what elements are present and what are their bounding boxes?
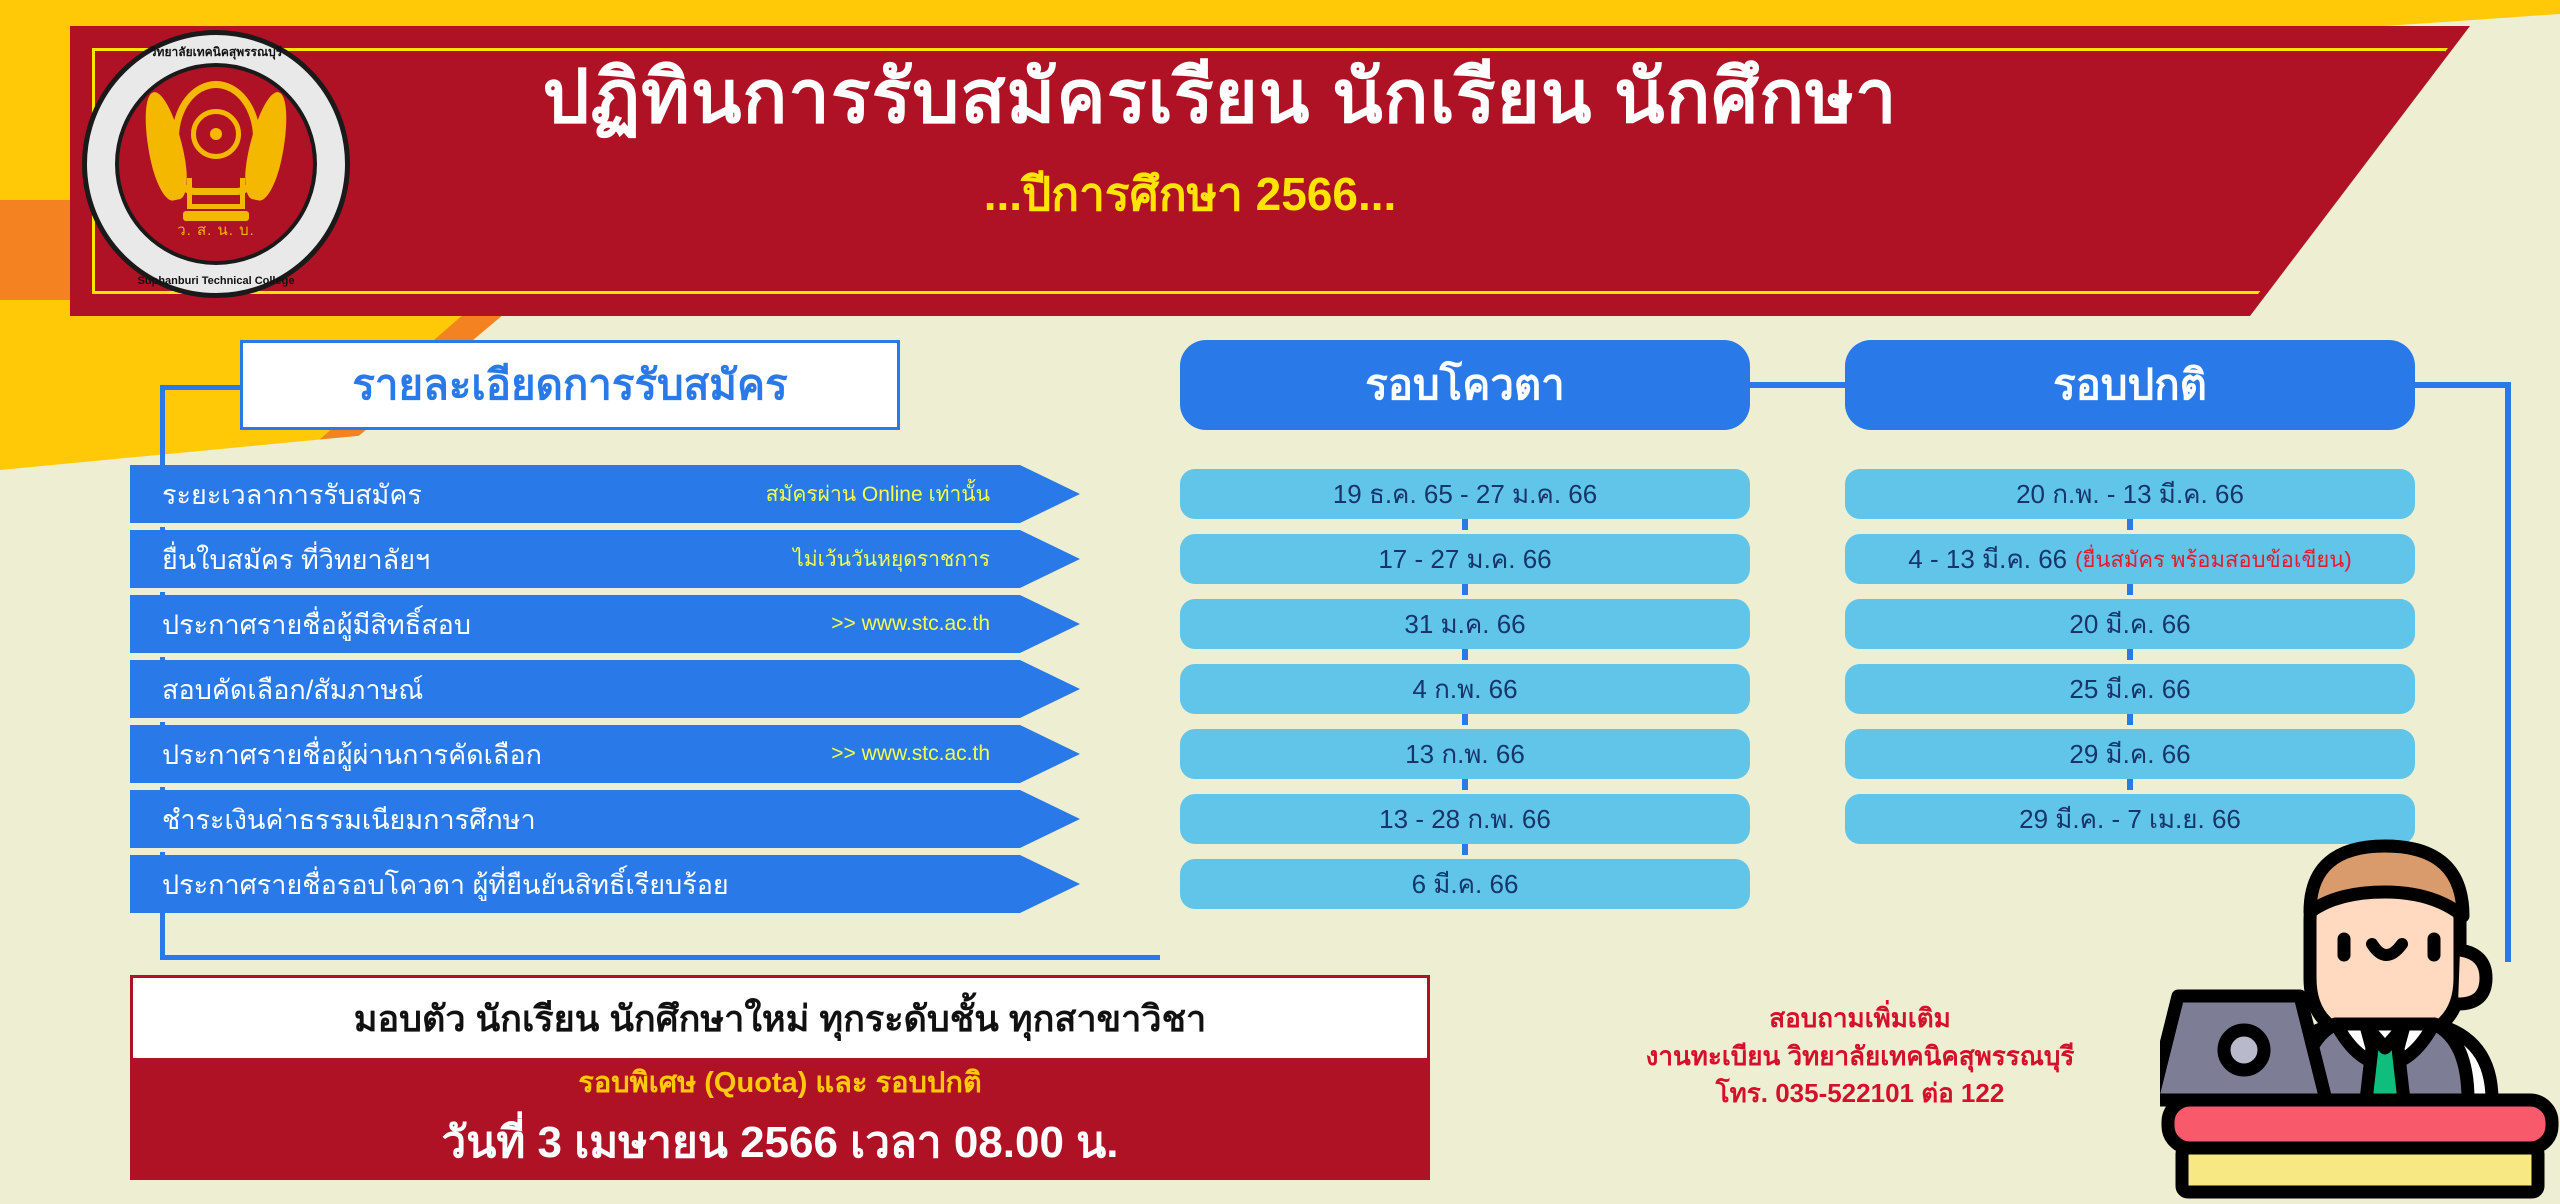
contact-block: สอบถามเพิ่มเติม งานทะเบียน วิทยาลัยเทคนิ… [1480,1000,2240,1113]
normal-connector-tick [2127,714,2133,725]
normal-connector-tick [2127,519,2133,530]
schedule-row-label-text: ประกาศรายชื่อผู้ผ่านการคัดเลือก [162,733,542,776]
column-header-normal-label: รอบปกติ [2053,352,2207,418]
enrollment-banner-line2: รอบพิเศษ (Quota) และ รอบปกติ [578,1059,981,1105]
quota-date-pill: 13 - 28 ก.พ. 66 [1180,794,1750,844]
quota-connector-tick [1462,779,1468,790]
quota-connector-tick [1462,519,1468,530]
schedule-row-separator [130,588,1080,592]
schedule-row-label-text: ยื่นใบสมัคร ที่วิทยาลัยฯ [162,538,430,581]
quota-date-pill: 6 มี.ค. 66 [1180,859,1750,909]
normal-date-text: 25 มี.ค. 66 [2069,669,2190,710]
schedule-row-label-text: ประกาศรายชื่อรอบโควตา ผู้ที่ยืนยันสิทธิ์… [162,863,729,906]
quota-connector-tick [1462,649,1468,660]
column-header-quota-label: รอบโควตา [1365,352,1565,418]
quota-date-text: 13 ก.พ. 66 [1405,734,1525,775]
schedule-row-label: ยื่นใบสมัคร ที่วิทยาลัยฯไม่เว้นวันหยุดรา… [130,530,1080,588]
connector-h-details [160,385,250,390]
schedule-row-note: ไม่เว้นวันหยุดราชการ [793,543,990,576]
schedule-row-label: ระยะเวลาการรับสมัครสมัครผ่าน Online เท่า… [130,465,1080,523]
normal-date-pill: 20 มี.ค. 66 [1845,599,2415,649]
schedule-row-label: สอบคัดเลือก/สัมภาษณ์ [130,660,1080,718]
quota-date-pill: 31 ม.ค. 66 [1180,599,1750,649]
college-logo: วิทยาลัยเทคนิคสุพรรณบุรี ว. ส. น. บ. Sup… [82,30,350,298]
column-header-normal: รอบปกติ [1845,340,2415,430]
enrollment-banner-top: มอบตัว นักเรียน นักศึกษาใหม่ ทุกระดับชั้… [133,978,1427,1058]
student-at-laptop-illustration [2160,800,2560,1204]
column-header-details: รายละเอียดการรับสมัคร [240,340,900,430]
schedule-row-label: ชำระเงินค่าธรรมเนียมการศึกษา [130,790,1080,848]
schedule-row-label-text: ระยะเวลาการรับสมัคร [162,473,422,516]
normal-date-pill: 4 - 13 มี.ค. 66(ยื่นสมัคร พร้อมสอบข้อเขี… [1845,534,2415,584]
quota-date-text: 6 มี.ค. 66 [1412,864,1519,905]
logo-arc-top-text: วิทยาลัยเทคนิคสุพรรณบุรี [82,43,350,62]
logo-abbreviation: ว. ส. น. บ. [82,218,350,242]
poster-root: วิทยาลัยเทคนิคสุพรรณบุรี ว. ส. น. บ. Sup… [0,0,2560,1204]
logo-dharma-wheel-icon [191,109,241,159]
schedule-row-separator [130,718,1080,722]
schedule-row-label-text: สอบคัดเลือก/สัมภาษณ์ [162,668,423,711]
normal-connector-tick [2127,649,2133,660]
schedule-row-note: >> www.stc.ac.th [831,612,990,636]
enrollment-banner-bottom: รอบพิเศษ (Quota) และ รอบปกติ วันที่ 3 เม… [133,1058,1427,1177]
schedule-row-label-text: ประกาศรายชื่อผู้มีสิทธิ์สอบ [162,603,471,646]
poster-title: ปฏิทินการรับสมัครเรียน นักเรียน นักศึกษา [330,58,2110,136]
quota-connector-tick [1462,584,1468,595]
poster-subtitle: ...ปีการศึกษา 2566... [330,158,2050,231]
schedule-row-label: ประกาศรายชื่อผู้มีสิทธิ์สอบ>> www.stc.ac… [130,595,1080,653]
enrollment-banner: มอบตัว นักเรียน นักศึกษาใหม่ ทุกระดับชั้… [130,975,1430,1180]
schedule-row-note: >> www.stc.ac.th [831,742,990,766]
normal-date-text: 4 - 13 มี.ค. 66 [1908,539,2067,580]
quota-date-text: 13 - 28 ก.พ. 66 [1379,799,1551,840]
normal-date-text: 20 มี.ค. 66 [2069,604,2190,645]
normal-connector-tick [2127,779,2133,790]
quota-connector-tick [1462,844,1468,855]
quota-date-text: 19 ธ.ค. 65 - 27 ม.ค. 66 [1333,474,1597,515]
contact-line2: งานทะเบียน วิทยาลัยเทคนิคสุพรรณบุรี [1480,1038,2240,1076]
schedule-row-separator [130,783,1080,787]
normal-date-text: 20 ก.พ. - 13 มี.ค. 66 [2016,474,2244,515]
quota-date-pill: 19 ธ.ค. 65 - 27 ม.ค. 66 [1180,469,1750,519]
quota-date-pill: 17 - 27 ม.ค. 66 [1180,534,1750,584]
logo-emblem-icon [156,73,276,223]
contact-line3: โทร. 035-522101 ต่อ 122 [1480,1075,2240,1113]
quota-date-text: 31 ม.ค. 66 [1404,604,1525,645]
logo-base-upper-icon [187,178,245,209]
schedule-row-note: สมัครผ่าน Online เท่านั้น [766,478,990,511]
logo-arc-bottom-text: Suphanburi Technical College [82,275,350,287]
normal-date-pill: 25 มี.ค. 66 [1845,664,2415,714]
schedule-row-label: ประกาศรายชื่อผู้ผ่านการคัดเลือก>> www.st… [130,725,1080,783]
normal-date-annotation: (ยื่นสมัคร พร้อมสอบข้อเขียน) [2075,542,2352,577]
enrollment-banner-line1: มอบตัว นักเรียน นักศึกษาใหม่ ทุกระดับชั้… [354,990,1206,1047]
normal-date-pill: 20 ก.พ. - 13 มี.ค. 66 [1845,469,2415,519]
schedule-row-label: ประกาศรายชื่อรอบโควตา ผู้ที่ยืนยันสิทธิ์… [130,855,1080,913]
normal-connector-tick [2127,584,2133,595]
normal-date-text: 29 มี.ค. 66 [2069,734,2190,775]
column-header-quota: รอบโควตา [1180,340,1750,430]
quota-date-text: 17 - 27 ม.ค. 66 [1378,539,1551,580]
schedule-row-separator [130,523,1080,527]
schedule-row-label-text: ชำระเงินค่าธรรมเนียมการศึกษา [162,798,536,841]
quota-date-text: 4 ก.พ. 66 [1412,669,1517,710]
connector-right-stub [2415,382,2510,388]
enrollment-banner-line3: วันที่ 3 เมษายน 2566 เวลา 08.00 น. [442,1107,1119,1177]
connector-between-heads [1750,382,1845,388]
column-header-details-label: รายละเอียดการรับสมัคร [352,352,787,418]
normal-date-pill: 29 มี.ค. 66 [1845,729,2415,779]
quota-date-pill: 4 ก.พ. 66 [1180,664,1750,714]
quota-connector-tick [1462,714,1468,725]
connector-h-bottom [160,955,1160,960]
contact-line1: สอบถามเพิ่มเติม [1480,1000,2240,1038]
quota-date-pill: 13 ก.พ. 66 [1180,729,1750,779]
schedule-row-separator [130,848,1080,852]
schedule-row-separator [130,653,1080,657]
